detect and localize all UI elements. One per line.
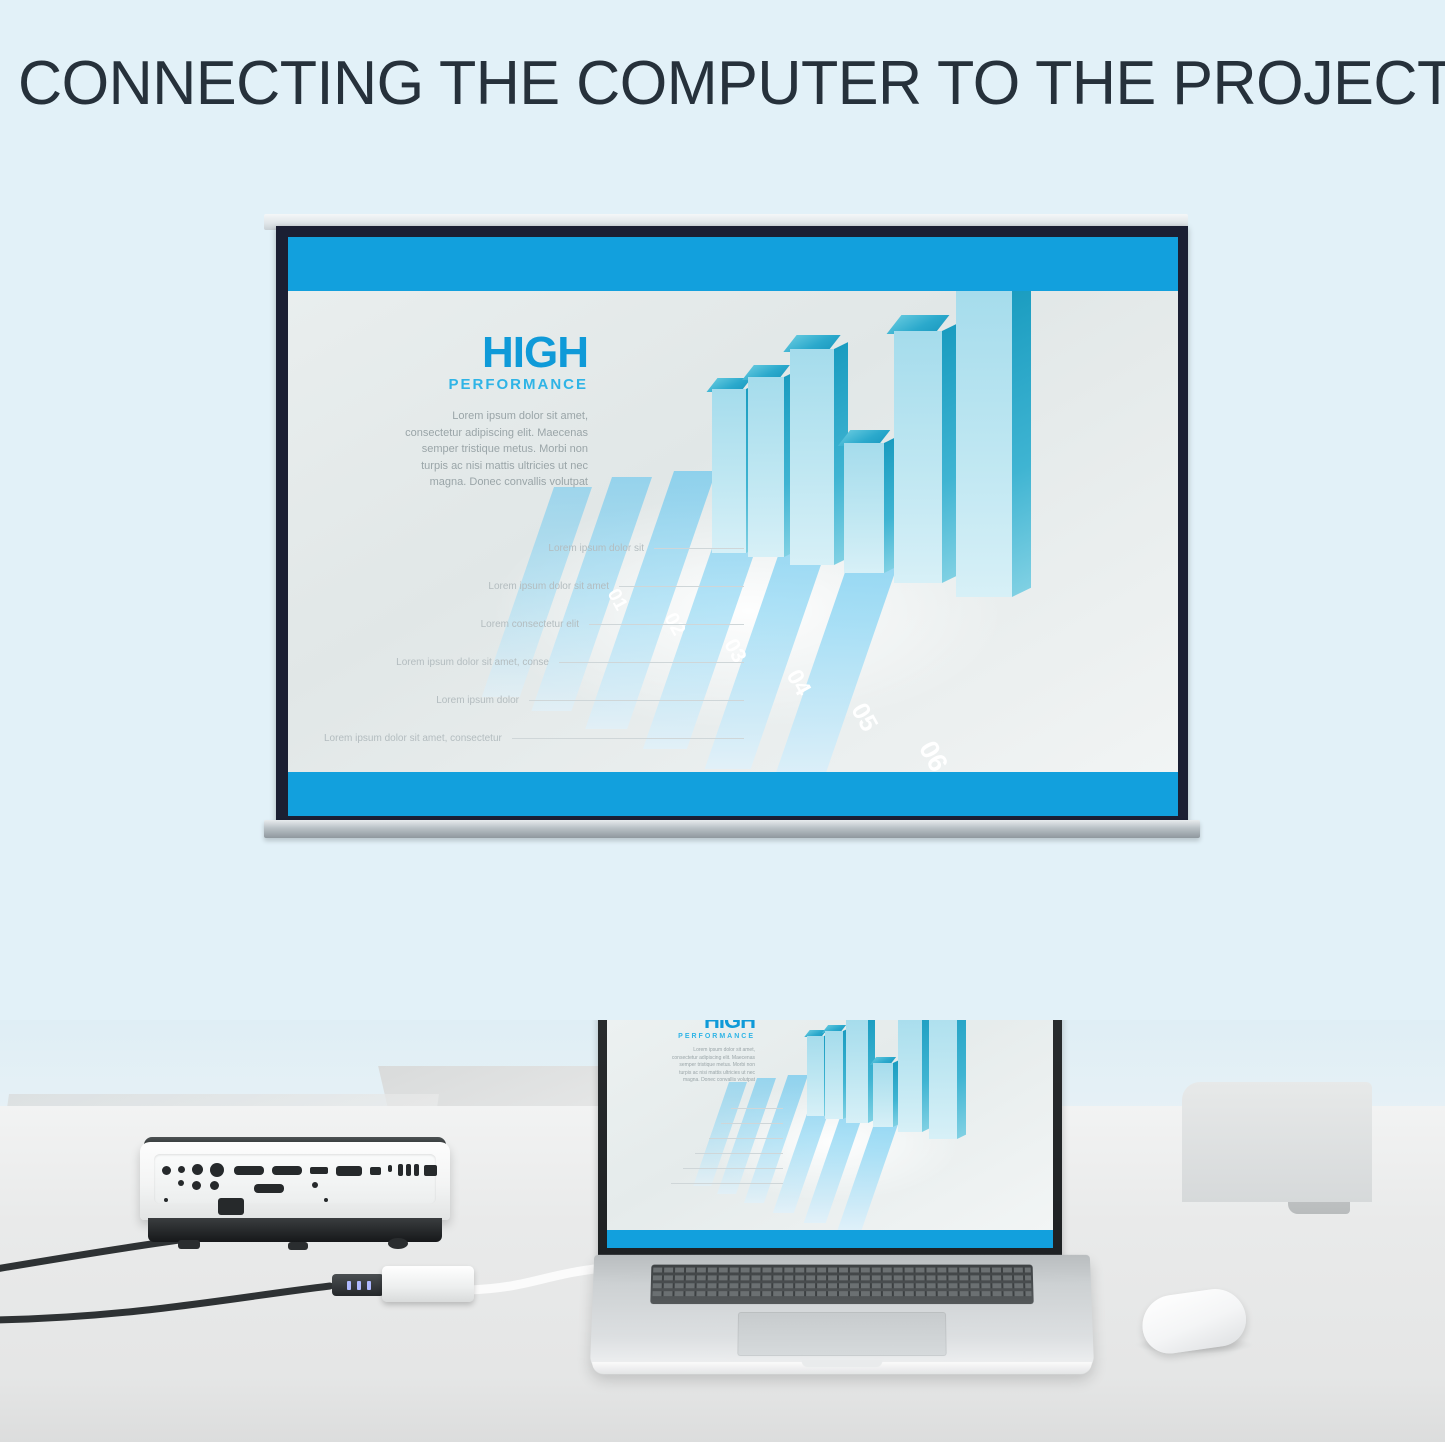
bar-04 xyxy=(844,443,884,573)
laptop-slide-bottom-band xyxy=(607,1230,1053,1248)
legend-row: Lorem consectetur elit xyxy=(324,619,744,630)
trigger-port xyxy=(312,1182,318,1188)
adapter-led-3 xyxy=(367,1281,371,1290)
laptop-bar-02 xyxy=(825,1031,843,1119)
legend-row xyxy=(623,1153,783,1154)
panel-screw xyxy=(324,1198,328,1202)
projector-body xyxy=(140,1142,450,1220)
laptop-slide-content: HIGH PERFORMANCE Lorem ipsum dolor sit a… xyxy=(607,1020,1053,1230)
projector-foot-right xyxy=(388,1238,408,1249)
legend-label: Lorem ipsum dolor xyxy=(436,695,519,706)
laptop-screen: HIGH PERFORMANCE Lorem ipsum dolor sit a… xyxy=(607,1020,1053,1248)
legend-label: Lorem ipsum dolor sit xyxy=(548,543,644,554)
legend-rule xyxy=(529,700,744,701)
laptop-base xyxy=(590,1255,1094,1372)
audio-in-right-port xyxy=(178,1166,185,1173)
indicator-slot xyxy=(388,1165,392,1172)
audio-out-port xyxy=(178,1180,184,1186)
legend-rule xyxy=(721,1123,783,1124)
laptop-body-line: semper tristique metus. Morbi non xyxy=(651,1062,755,1070)
legend-label: Lorem ipsum dolor sit amet xyxy=(488,581,609,592)
bar-05 xyxy=(894,331,942,583)
laptop-front-notch xyxy=(802,1360,883,1367)
projector-foot-center xyxy=(288,1242,308,1250)
legend-row xyxy=(623,1108,783,1109)
legend-rule xyxy=(683,1168,783,1169)
laptop-bar-03 xyxy=(846,1020,868,1123)
component-video-port xyxy=(210,1181,219,1190)
laptop-bar-06 xyxy=(929,1020,957,1139)
laptop-bar-05 xyxy=(898,1020,922,1132)
legend-rule xyxy=(731,1108,783,1109)
vga-in-port xyxy=(234,1166,264,1175)
legend-rule xyxy=(695,1153,783,1154)
legend-rule xyxy=(619,586,744,587)
headline-performance: PERFORMANCE xyxy=(384,377,588,392)
slide-body-line: consectetur adipiscing elit. Maecenas xyxy=(384,425,588,442)
legend-rule xyxy=(654,548,744,549)
vga-out-port xyxy=(272,1166,302,1175)
legend-row: Lorem ipsum dolor sit xyxy=(324,543,744,554)
slide-legend: Lorem ipsum dolor sit Lorem ipsum dolor … xyxy=(324,543,744,744)
laptop-trackpad[interactable] xyxy=(737,1312,946,1356)
slide-body-line: turpis ac nisi mattis ultricies ut nec xyxy=(384,458,588,475)
adapter-led-2 xyxy=(357,1281,361,1290)
rj45-lan-port xyxy=(424,1165,437,1176)
legend-rule xyxy=(559,662,744,663)
bar-03 xyxy=(790,349,834,565)
slide-headline-block: HIGH PERFORMANCE Lorem ipsum dolor sit a… xyxy=(384,331,588,491)
legend-row xyxy=(623,1123,783,1124)
laptop-headline-performance: PERFORMANCE xyxy=(651,1033,755,1040)
usb-a-port-3 xyxy=(414,1164,419,1176)
s-video-port xyxy=(192,1164,203,1175)
bar-06 xyxy=(956,291,1012,597)
page-title: CONNECTING THE COMPUTER TO THE PROJECTOR xyxy=(18,46,1417,122)
projection-screen: 01 02 03 04 05 06 xyxy=(252,214,1200,846)
screen-bottom-weight-bar xyxy=(264,820,1200,838)
laptop-lid: HIGH PERFORMANCE Lorem ipsum dolor sit a… xyxy=(598,1020,1062,1258)
projector xyxy=(140,1142,450,1250)
headline-high: HIGH xyxy=(384,331,588,375)
laptop-bar-04 xyxy=(873,1063,893,1127)
laptop-body-line: turpis ac nisi mattis ultricies ut nec xyxy=(651,1070,755,1078)
laptop-body-line: consectetur adipiscing elit. Maecenas xyxy=(651,1055,755,1063)
legend-label: Lorem ipsum dolor sit amet, conse xyxy=(396,657,549,668)
legend-rule xyxy=(709,1138,783,1139)
slide-body-line: magna. Donec convallis volutpat xyxy=(384,474,588,491)
legend-row xyxy=(623,1183,783,1184)
legend-label: Lorem ipsum dolor sit amet, consectetur xyxy=(324,733,502,744)
legend-rule xyxy=(512,738,744,739)
laptop-body-line: Lorem ipsum dolor sit amet, xyxy=(651,1047,755,1055)
slide-content: 01 02 03 04 05 06 xyxy=(288,291,1178,772)
legend-row: Lorem ipsum dolor sit amet xyxy=(324,581,744,592)
legend-label: Lorem consectetur elit xyxy=(481,619,579,630)
legend-rule xyxy=(589,624,744,625)
legend-row: Lorem ipsum dolor sit amet, consectetur xyxy=(324,733,744,744)
audio-in-left-port xyxy=(162,1166,171,1175)
slide-body-line: semper tristique metus. Morbi non xyxy=(384,441,588,458)
video-in-port xyxy=(210,1163,224,1177)
legend-row xyxy=(623,1168,783,1169)
laptop: HIGH PERFORMANCE Lorem ipsum dolor sit a… xyxy=(592,1020,1092,1388)
laptop-headline-high: HIGH xyxy=(651,1020,755,1032)
adapter-cable-segment xyxy=(0,1286,330,1320)
power-socket xyxy=(218,1198,244,1215)
slide-body-line: Lorem ipsum dolor sit amet, xyxy=(384,408,588,425)
legend-rule xyxy=(671,1183,783,1184)
composite-video-port xyxy=(192,1181,201,1190)
legend-row xyxy=(623,1138,783,1139)
bar-01 xyxy=(712,389,746,553)
laptop-headline-block: HIGH PERFORMANCE Lorem ipsum dolor sit a… xyxy=(651,1020,755,1085)
panel-screw xyxy=(164,1198,168,1202)
shadow-number-06: 06 xyxy=(912,736,954,772)
hdmi-port xyxy=(310,1167,328,1174)
scene: CONNECTING THE COMPUTER TO THE PROJECTOR xyxy=(0,0,1445,1442)
projector-foot-left xyxy=(178,1240,200,1249)
laptop-bar-01 xyxy=(807,1036,824,1116)
legend-row: Lorem ipsum dolor sit amet, conse xyxy=(324,657,744,668)
adapter-led-1 xyxy=(347,1281,351,1290)
serial-port xyxy=(254,1184,284,1193)
usb-a-port-2 xyxy=(406,1164,411,1176)
usb-b-port xyxy=(370,1167,381,1175)
slide-bottom-band xyxy=(288,772,1178,816)
usb-a-port-1 xyxy=(398,1164,403,1176)
laptop-keyboard[interactable] xyxy=(650,1265,1033,1304)
rs232-port xyxy=(336,1166,362,1176)
adapter-body xyxy=(382,1266,474,1302)
slide-top-band xyxy=(288,237,1178,291)
laptop-legend xyxy=(623,1108,783,1184)
desk-scene: HIGH PERFORMANCE Lorem ipsum dolor sit a… xyxy=(0,1020,1445,1442)
screen-frame: 01 02 03 04 05 06 xyxy=(276,226,1188,826)
legend-row: Lorem ipsum dolor xyxy=(324,695,744,706)
bar-02 xyxy=(748,377,784,557)
projector-port-panel xyxy=(154,1154,436,1204)
laptop-body-line: magna. Donec convallis volutpat xyxy=(651,1077,755,1085)
projected-slide: 01 02 03 04 05 06 xyxy=(288,237,1178,816)
